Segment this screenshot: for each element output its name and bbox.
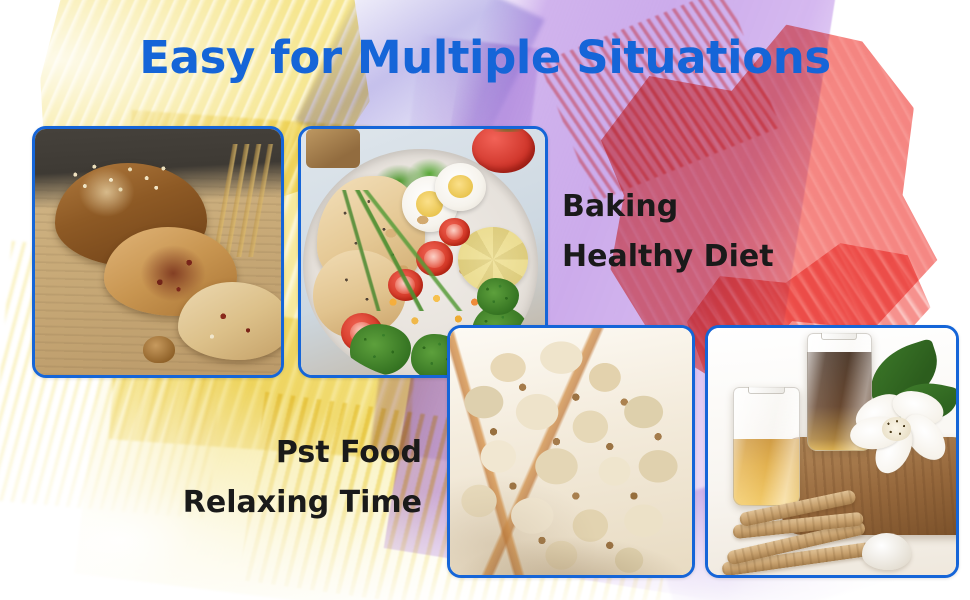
- caption-line-healthy-diet: Healthy Diet: [562, 232, 774, 282]
- page-title: Easy for Multiple Situations: [0, 34, 970, 81]
- caption-line-pst-food: Pst Food: [183, 428, 422, 478]
- relaxing-time-photo-image: [708, 328, 956, 575]
- pet-food-photo-image: [450, 328, 692, 575]
- bottle-neck: [821, 333, 857, 340]
- bottle-neck: [748, 387, 786, 394]
- panel-relaxing-time-photo: [705, 325, 959, 578]
- caption-line-baking: Baking: [562, 182, 774, 232]
- promo-banner: Easy for Multiple Situations: [0, 0, 970, 600]
- broccoli-floret-a: [350, 324, 411, 375]
- herb-garnish: [322, 190, 467, 310]
- panel-pet-food-photo: [447, 325, 695, 578]
- flower-center: [882, 417, 912, 441]
- pile-shadow: [450, 328, 692, 575]
- pepper-mill: [306, 129, 360, 168]
- caption-pst-food-relaxing-time: Pst Food Relaxing Time: [183, 428, 422, 527]
- jasmine-flower: [852, 392, 951, 476]
- caption-baking-healthy-diet: Baking Healthy Diet: [562, 182, 774, 281]
- white-pebble: [862, 533, 912, 570]
- baking-photo-image: [35, 129, 281, 375]
- walnut-piece: [143, 336, 175, 363]
- caption-line-relaxing-time: Relaxing Time: [183, 478, 422, 528]
- panel-baking-photo: [32, 126, 284, 378]
